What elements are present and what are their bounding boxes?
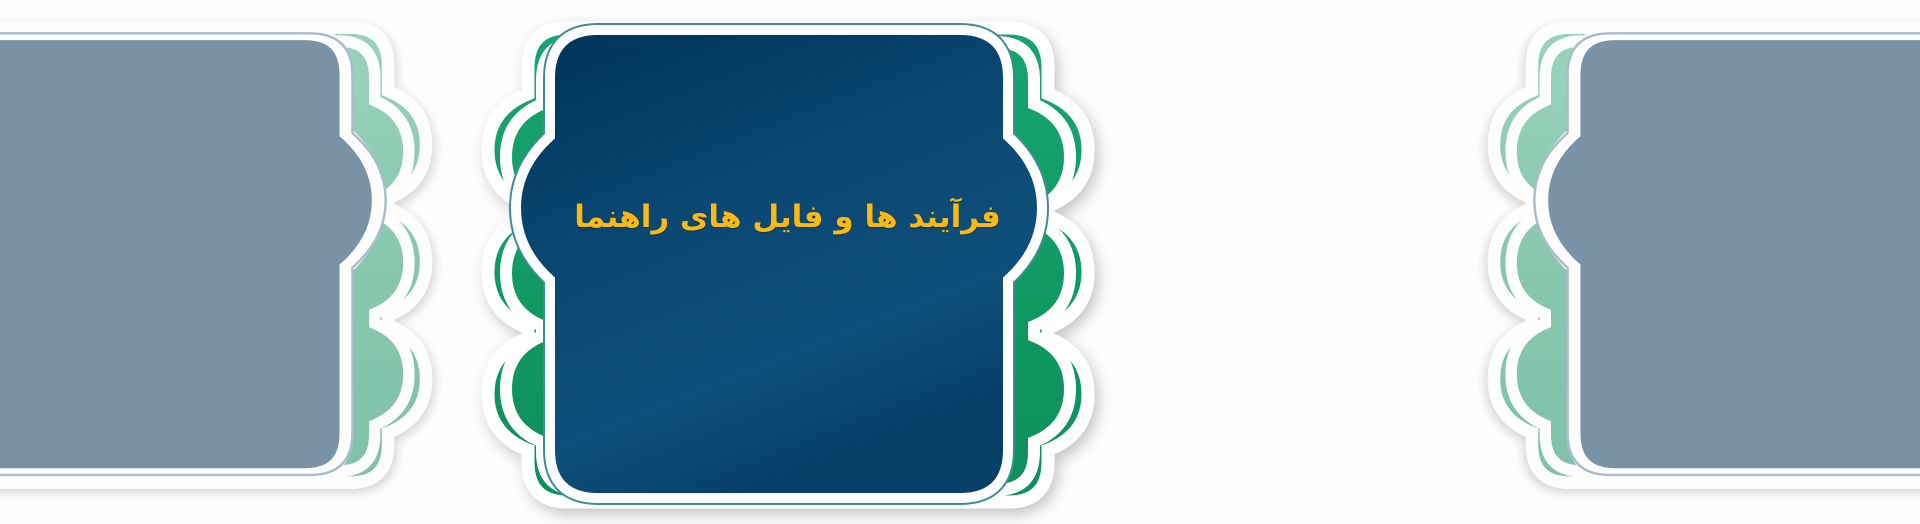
navy-panel xyxy=(520,34,1038,494)
right-scallop-ornament xyxy=(1494,28,1920,483)
plaque-rings xyxy=(520,34,1038,494)
banner-artwork xyxy=(0,0,1920,524)
left-scallop-ornament xyxy=(0,28,426,483)
banner-stage: فرآیند ها و فایل های راهنما xyxy=(0,0,1920,524)
center-scalloped-plaque xyxy=(488,28,1088,502)
